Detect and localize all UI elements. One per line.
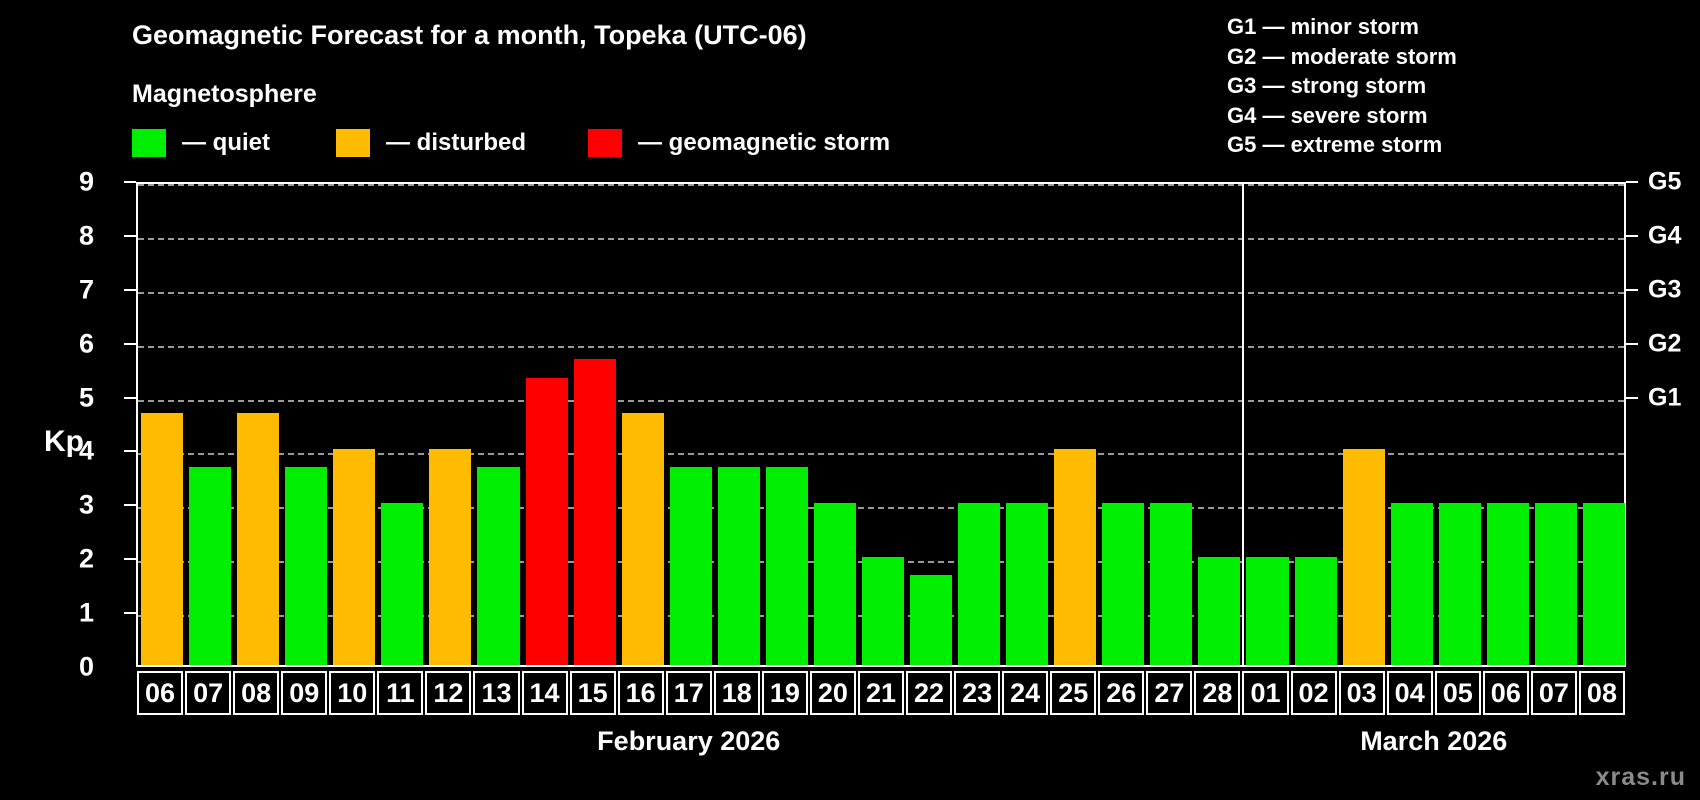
date-label-cell: 27 xyxy=(1146,671,1192,715)
bars-layer xyxy=(138,184,1624,665)
date-label-cell: 03 xyxy=(1339,671,1385,715)
bar xyxy=(526,378,568,665)
y-tick-mark-9 xyxy=(124,181,136,183)
bar xyxy=(1439,503,1481,665)
bar xyxy=(1150,503,1192,665)
bar xyxy=(766,467,808,665)
bar xyxy=(477,467,519,665)
y-tick-label-5: 5 xyxy=(54,382,94,413)
date-label-cell: 20 xyxy=(810,671,856,715)
g-tick-mark-G2 xyxy=(1626,343,1638,345)
date-label-cell: 05 xyxy=(1435,671,1481,715)
date-label-cell: 28 xyxy=(1194,671,1240,715)
date-label-cell: 25 xyxy=(1050,671,1096,715)
bar xyxy=(1391,503,1433,665)
date-label-cell: 04 xyxy=(1387,671,1433,715)
bar xyxy=(1535,503,1577,665)
bar xyxy=(429,449,471,665)
bar xyxy=(1006,503,1048,665)
date-label-cell: 10 xyxy=(329,671,375,715)
date-label-cell: 01 xyxy=(1242,671,1288,715)
bar xyxy=(1102,503,1144,665)
month-caption-2: March 2026 xyxy=(1360,726,1507,757)
bar xyxy=(1583,503,1625,665)
g-scale-legend: G1 — minor stormG2 — moderate stormG3 — … xyxy=(1227,12,1457,160)
bar xyxy=(1343,449,1385,665)
g-legend-line-4: G4 — severe storm xyxy=(1227,101,1457,131)
bar xyxy=(237,413,279,665)
date-label-cell: 17 xyxy=(666,671,712,715)
bar xyxy=(1295,557,1337,665)
bar xyxy=(862,557,904,665)
g-tick-label-G2: G2 xyxy=(1648,329,1681,358)
y-tick-mark-7 xyxy=(124,289,136,291)
date-label-cell: 19 xyxy=(762,671,808,715)
legend-swatch-quiet xyxy=(132,129,166,157)
legend-swatch-disturbed xyxy=(336,129,370,157)
g-tick-label-G5: G5 xyxy=(1648,168,1681,197)
g-legend-line-2: G2 — moderate storm xyxy=(1227,42,1457,72)
legend-label-quiet: — quiet xyxy=(182,129,270,157)
bar xyxy=(189,467,231,665)
date-label-cell: 13 xyxy=(473,671,519,715)
y-tick-label-8: 8 xyxy=(54,220,94,251)
date-label-cell: 15 xyxy=(570,671,616,715)
date-label-cell: 07 xyxy=(185,671,231,715)
date-label-cell: 24 xyxy=(1002,671,1048,715)
g-tick-mark-G1 xyxy=(1626,397,1638,399)
bar xyxy=(958,503,1000,665)
watermark: xras.ru xyxy=(1596,763,1686,792)
page-title: Geomagnetic Forecast for a month, Topeka… xyxy=(132,20,807,51)
g-tick-label-G1: G1 xyxy=(1648,383,1681,412)
date-label-cell: 22 xyxy=(906,671,952,715)
date-label-cell: 18 xyxy=(714,671,760,715)
month-divider-line xyxy=(1242,184,1244,665)
y-tick-mark-6 xyxy=(124,343,136,345)
y-tick-label-6: 6 xyxy=(54,328,94,359)
y-tick-mark-4 xyxy=(124,450,136,452)
month-caption-1: February 2026 xyxy=(597,726,780,757)
y-tick-label-7: 7 xyxy=(54,274,94,305)
date-label-cell: 23 xyxy=(954,671,1000,715)
y-tick-mark-8 xyxy=(124,235,136,237)
bar xyxy=(574,359,616,665)
date-label-cell: 08 xyxy=(233,671,279,715)
y-tick-label-0: 0 xyxy=(54,652,94,683)
date-label-cell: 07 xyxy=(1531,671,1577,715)
bar xyxy=(381,503,423,665)
g-tick-mark-G4 xyxy=(1626,235,1638,237)
geomagnetic-forecast-chart: Geomagnetic Forecast for a month, Topeka… xyxy=(0,0,1700,800)
y-tick-mark-3 xyxy=(124,504,136,506)
legend-item-storm: — geomagnetic storm xyxy=(588,128,890,158)
date-label-cell: 09 xyxy=(281,671,327,715)
bar xyxy=(622,413,664,665)
g-legend-line-3: G3 — strong storm xyxy=(1227,71,1457,101)
date-label-cell: 26 xyxy=(1098,671,1144,715)
bar xyxy=(718,467,760,665)
g-tick-mark-G5 xyxy=(1626,181,1638,183)
bar xyxy=(141,413,183,665)
bar xyxy=(285,467,327,665)
bar xyxy=(1246,557,1288,665)
g-tick-label-G4: G4 xyxy=(1648,221,1681,250)
y-tick-label-4: 4 xyxy=(54,436,94,467)
y-tick-mark-1 xyxy=(124,612,136,614)
bar xyxy=(1198,557,1240,665)
bar xyxy=(1487,503,1529,665)
g-legend-line-1: G1 — minor storm xyxy=(1227,12,1457,42)
date-label-cell: 02 xyxy=(1291,671,1337,715)
bar xyxy=(333,449,375,665)
bar xyxy=(1054,449,1096,665)
bar xyxy=(814,503,856,665)
y-tick-mark-2 xyxy=(124,558,136,560)
g-tick-label-G3: G3 xyxy=(1648,275,1681,304)
legend-label-disturbed: — disturbed xyxy=(386,129,526,157)
date-label-cell: 12 xyxy=(425,671,471,715)
date-label-cell: 06 xyxy=(1483,671,1529,715)
y-tick-label-2: 2 xyxy=(54,544,94,575)
magnetosphere-legend: — quiet — disturbed — geomagnetic storm xyxy=(132,128,890,158)
legend-label-storm: — geomagnetic storm xyxy=(638,129,890,157)
plot-frame xyxy=(136,182,1626,667)
g-tick-mark-G3 xyxy=(1626,289,1638,291)
bar xyxy=(910,575,952,665)
date-label-cell: 14 xyxy=(522,671,568,715)
g-legend-line-5: G5 — extreme storm xyxy=(1227,130,1457,160)
y-tick-label-9: 9 xyxy=(54,167,94,198)
legend-heading: Magnetosphere xyxy=(132,80,317,109)
date-label-cell: 08 xyxy=(1579,671,1625,715)
y-tick-label-1: 1 xyxy=(54,598,94,629)
y-tick-mark-5 xyxy=(124,397,136,399)
legend-item-disturbed: — disturbed xyxy=(336,128,526,158)
date-label-cell: 16 xyxy=(618,671,664,715)
legend-swatch-storm xyxy=(588,129,622,157)
date-label-cell: 21 xyxy=(858,671,904,715)
legend-item-quiet: — quiet xyxy=(132,128,270,158)
date-label-cell: 11 xyxy=(377,671,423,715)
plot-area xyxy=(138,184,1624,665)
y-tick-label-3: 3 xyxy=(54,490,94,521)
date-axis: 0607080910111213141516171819202122232425… xyxy=(136,671,1626,715)
bar xyxy=(670,467,712,665)
date-label-cell: 06 xyxy=(137,671,183,715)
